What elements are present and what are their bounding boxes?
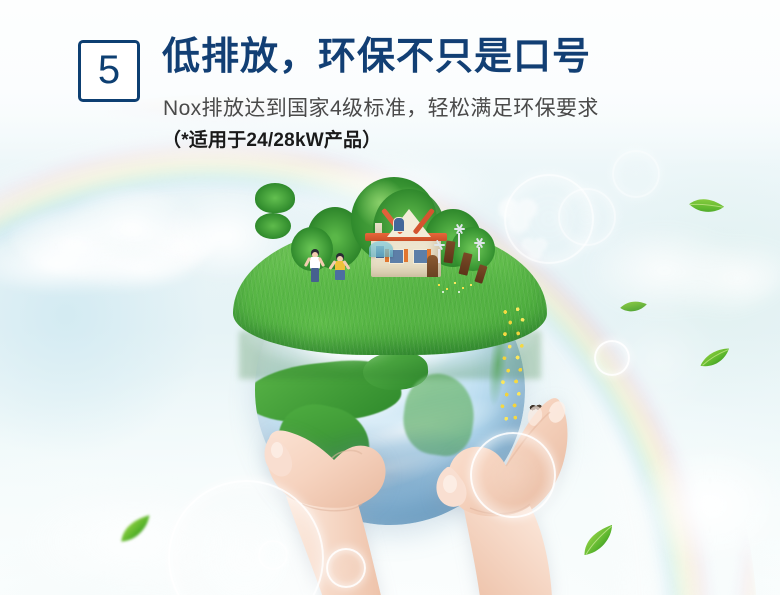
header-block: 5 低排放，环保不只是口号 Nox排放达到国家4级标准，轻松满足环保要求 （*适… <box>0 0 780 165</box>
house-attic-window <box>393 217 405 232</box>
bubble-medium-center <box>470 432 556 518</box>
bubble-tiny-bottom <box>258 540 288 570</box>
bubble-small-right <box>594 340 630 376</box>
bush-left-icon <box>255 183 295 213</box>
step-number-value: 5 <box>98 50 120 90</box>
hand-right-thumbnail <box>443 475 457 493</box>
page-root: 5 低排放，环保不只是口号 Nox排放达到国家4级标准，轻松满足环保要求 （*适… <box>0 0 780 595</box>
globe-scene <box>255 183 525 313</box>
windmill-icon-3 <box>431 243 447 263</box>
flower-patch <box>435 279 477 295</box>
child-left-jeans <box>311 268 319 282</box>
windmill-post-3 <box>438 249 440 263</box>
hand-left-thumbnail <box>271 442 283 458</box>
hand-right-wrist <box>464 506 552 595</box>
house-shutter-mid <box>404 249 408 262</box>
child-right-skirt <box>335 270 345 280</box>
windmill-icon-1 <box>451 227 467 247</box>
page-note: （*适用于24/28kW产品） <box>162 125 381 152</box>
child-right <box>333 253 347 285</box>
bush-right-icon <box>255 213 291 239</box>
house-awning <box>369 241 393 257</box>
windmill-post-1 <box>458 233 460 247</box>
house-window-right <box>413 249 428 264</box>
windmill-icon-2 <box>471 241 487 261</box>
page-subtitle: Nox排放达到国家4级标准，轻松满足环保要求 <box>163 92 599 122</box>
bubble-small-bottom <box>326 548 366 588</box>
bubble-upper-right-2 <box>558 188 616 246</box>
step-number-badge: 5 <box>78 40 140 102</box>
child-left <box>308 249 322 283</box>
windmill-post-2 <box>478 247 480 261</box>
page-title: 低排放，环保不只是口号 <box>162 36 591 79</box>
